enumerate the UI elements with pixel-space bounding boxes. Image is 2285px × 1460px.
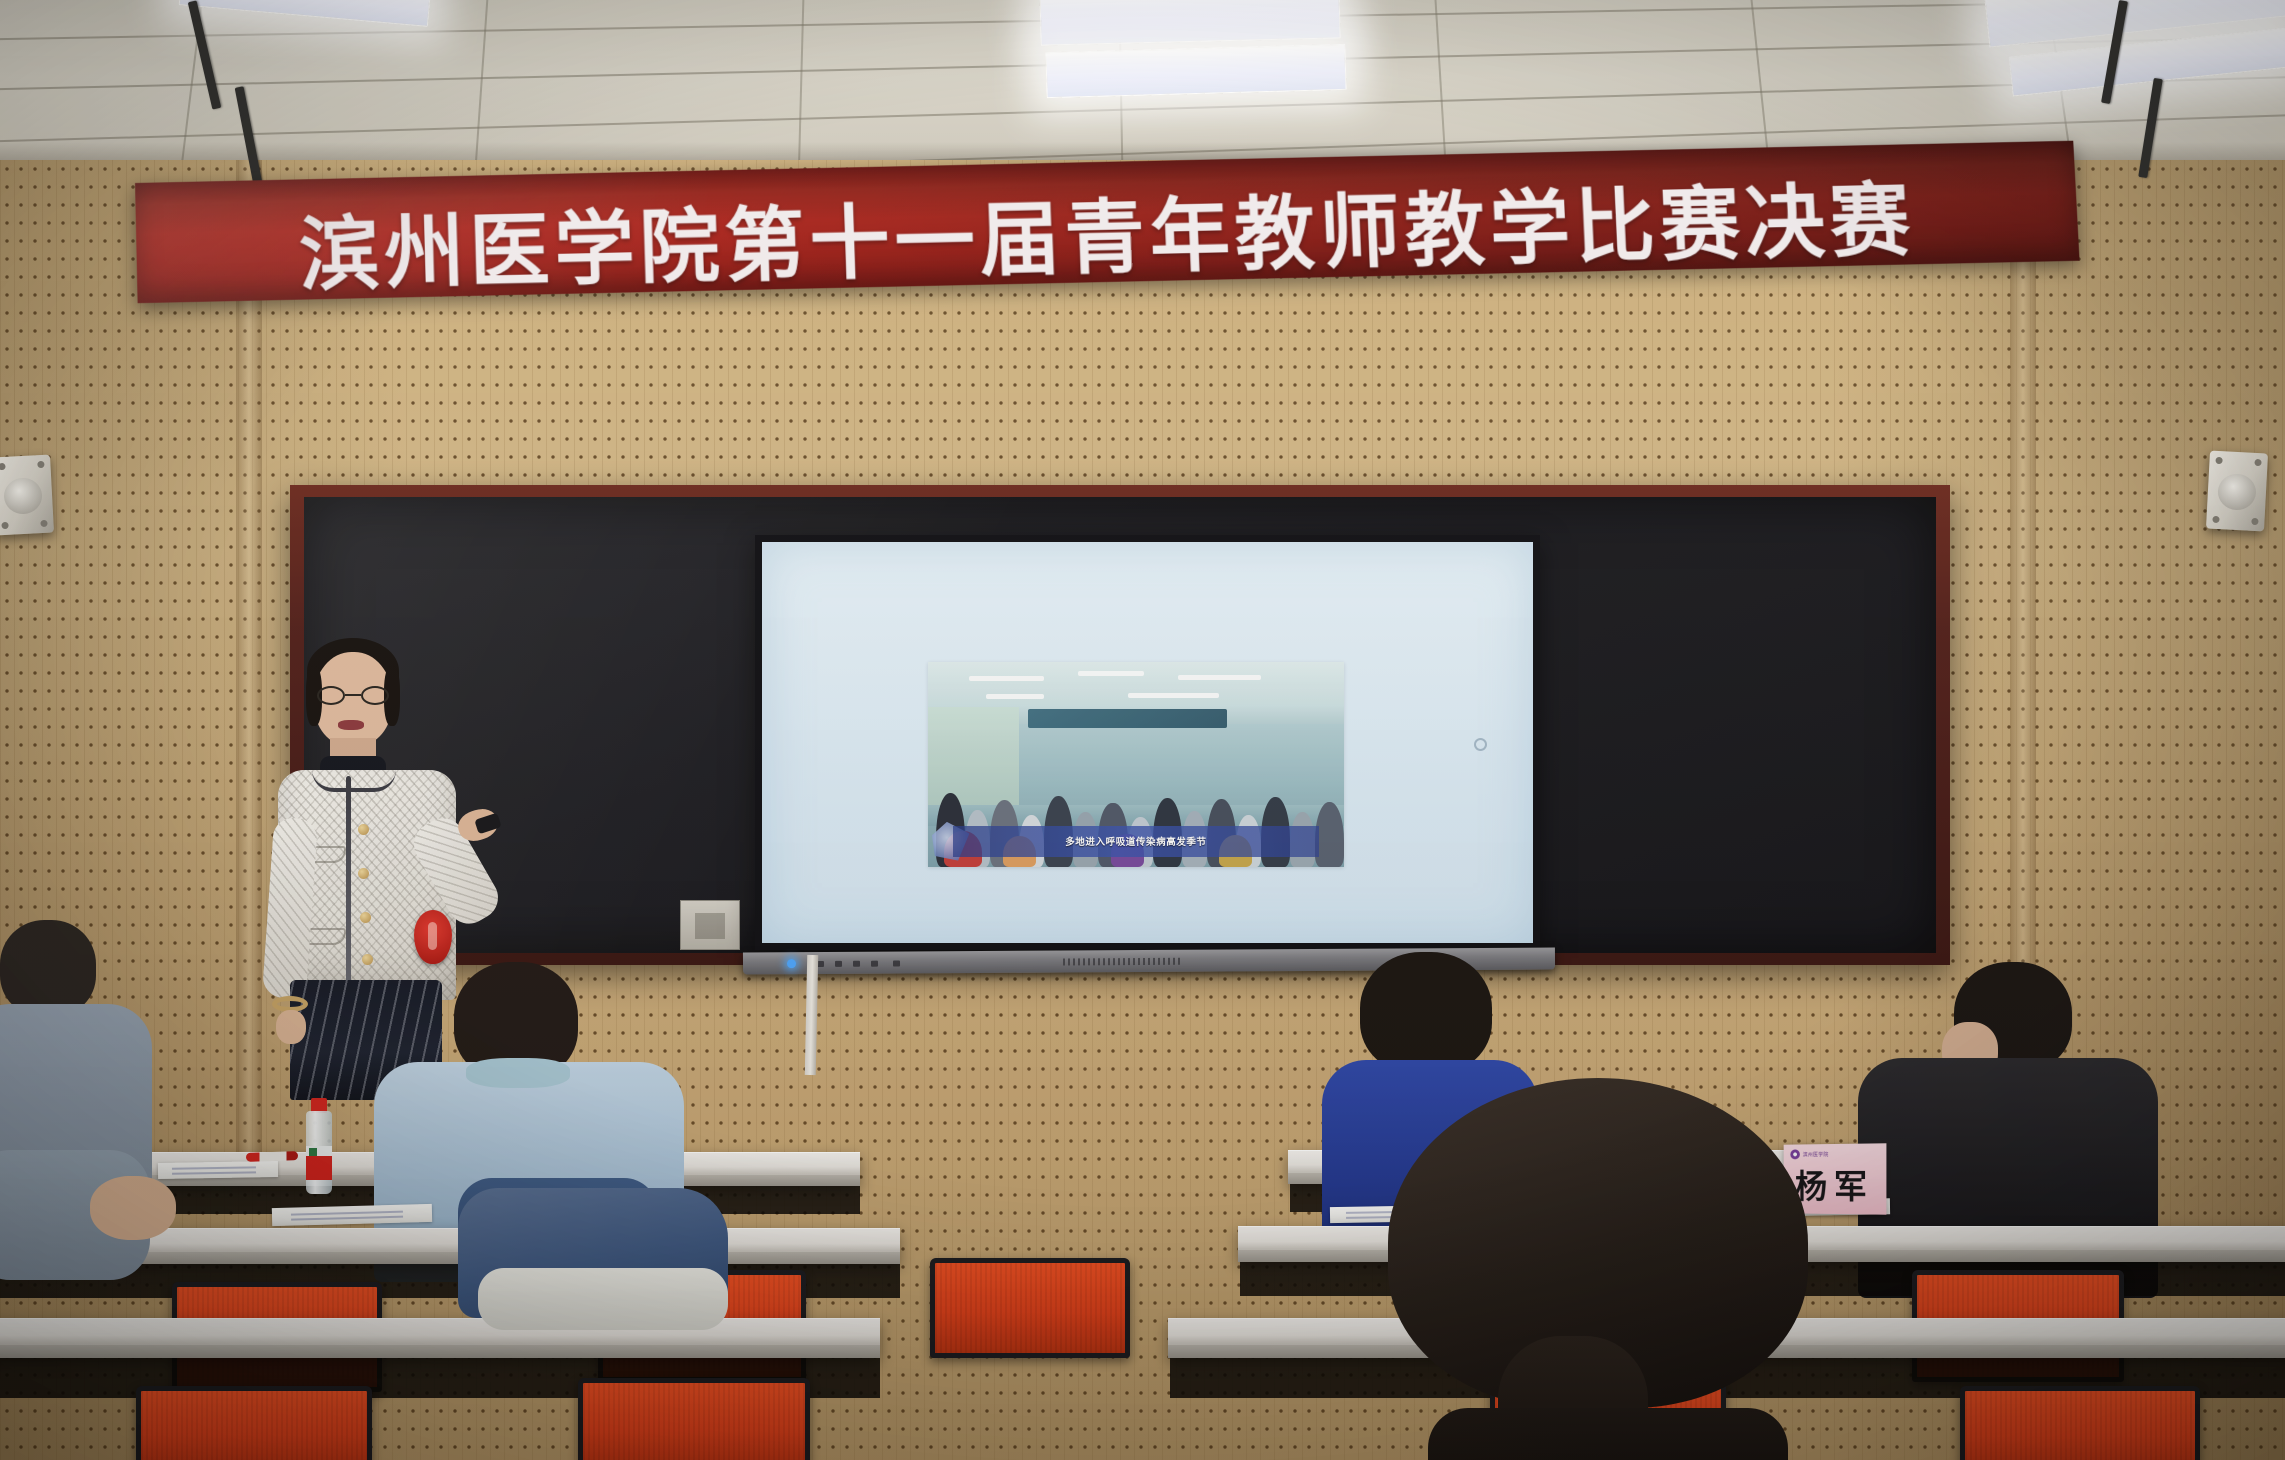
settings-button[interactable] xyxy=(893,961,900,967)
speaker-grille-icon xyxy=(1063,958,1183,966)
water-bottle-left[interactable] xyxy=(306,1098,332,1194)
chair-r3-4[interactable] xyxy=(1960,1386,2200,1460)
draped-coat-fur xyxy=(478,1268,728,1330)
source-button[interactable] xyxy=(853,961,860,967)
wall-outlet-plate xyxy=(680,900,740,950)
ceiling-light-panel xyxy=(179,0,432,27)
slide-photo: 多地进入呼吸道传染病高发季节 xyxy=(928,662,1344,867)
presenter-badge xyxy=(414,910,452,964)
audience-member-front-left-arm xyxy=(0,1130,220,1310)
power-led-icon xyxy=(787,959,796,968)
chair-r3-2[interactable] xyxy=(578,1378,810,1460)
glasses-icon xyxy=(317,686,389,705)
projection-screen[interactable]: 多地进入呼吸道传染病高发季节 xyxy=(762,542,1533,943)
ceiling-light-panel xyxy=(1045,44,1346,98)
photo-hospital-sign xyxy=(1028,709,1228,727)
classroom-scene: 滨州医学院第十一届青年教师教学比赛决赛 xyxy=(0,0,2285,1460)
chair-r2-3[interactable] xyxy=(930,1258,1130,1358)
marker-pen[interactable] xyxy=(246,1151,298,1162)
wall-speaker-left xyxy=(0,455,54,536)
volume-button[interactable] xyxy=(871,961,878,967)
slide-caption: 多地进入呼吸道传染病高发季节 xyxy=(953,826,1319,857)
whiteboard-touch-dot[interactable] xyxy=(1474,738,1487,751)
wall-pilaster xyxy=(236,160,262,1160)
ceiling-light-panel xyxy=(1039,0,1340,46)
menu-button[interactable] xyxy=(835,961,842,967)
chair-r3-1[interactable] xyxy=(136,1386,372,1460)
audience-member-foreground xyxy=(1388,1078,1808,1460)
interactive-whiteboard[interactable]: 多地进入呼吸道传染病高发季节 xyxy=(755,535,1540,950)
desk-row3-left xyxy=(0,1318,880,1358)
wall-speaker-right xyxy=(2206,451,2268,532)
